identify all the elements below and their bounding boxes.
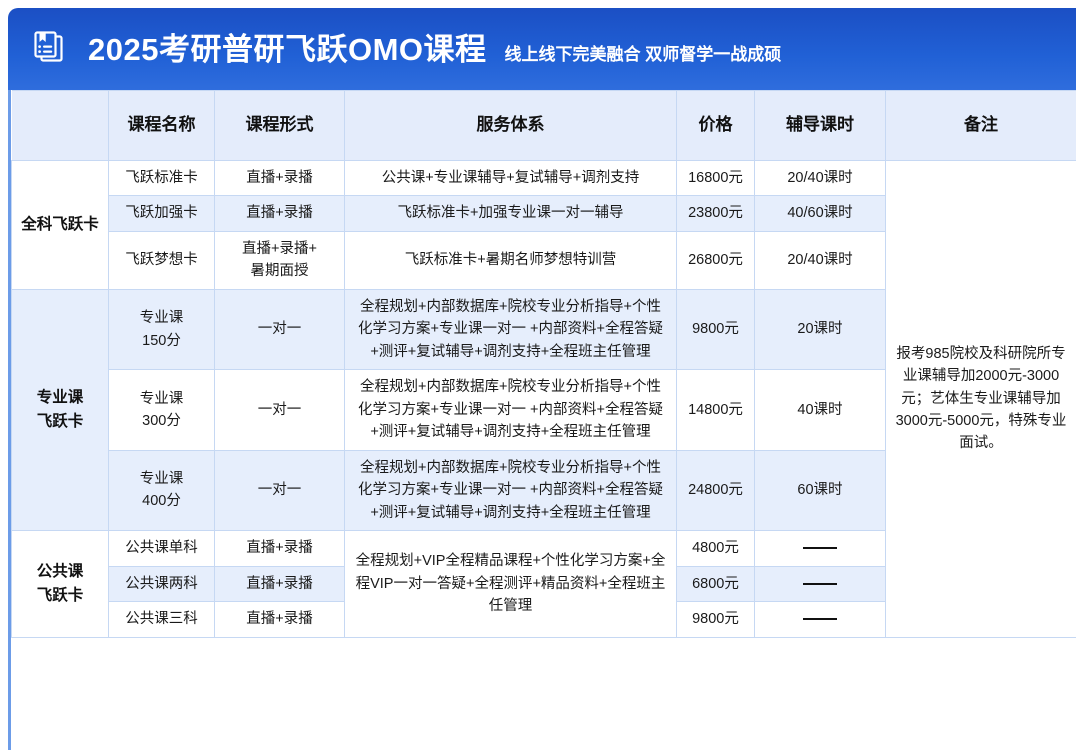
tutor-hours: 20课时 [755,289,886,369]
service-system-shared: 全程规划+VIP全程精品课程+个性化学习方案+全程VIP一对一答疑+全程测评+精… [345,531,677,637]
course-form: 一对一 [215,450,345,530]
col-header-service-system: 服务体系 [345,91,677,161]
course-name: 飞跃加强卡 [109,196,215,231]
col-header-group [12,91,109,161]
price: 16800元 [677,161,755,196]
tutor-hours [755,531,886,566]
col-header-remarks: 备注 [886,91,1076,161]
group-label-gonggongke: 公共课 飞跃卡 [12,531,109,637]
table-row: 全科飞跃卡 飞跃标准卡 直播+录播 公共课+专业课辅导+复试辅导+调剂支持 16… [12,161,1076,196]
course-name: 专业课 150分 [109,289,215,369]
tutor-hours: 40课时 [755,370,886,450]
tutor-hours: 20/40课时 [755,161,886,196]
col-header-price: 价格 [677,91,755,161]
price: 9800元 [677,289,755,369]
table-header: 课程名称 课程形式 服务体系 价格 辅导课时 备注 [12,91,1076,161]
group-label-quanke: 全科飞跃卡 [12,161,109,290]
empty-dash-icon [803,583,837,585]
service-system: 公共课+专业课辅导+复试辅导+调剂支持 [345,161,677,196]
course-form: 直播+录播 [215,566,345,601]
course-form: 直播+录播 [215,161,345,196]
service-system: 飞跃标准卡+暑期名师梦想特训营 [345,231,677,289]
table-header-row: 课程名称 课程形式 服务体系 价格 辅导课时 备注 [12,91,1076,161]
course-name: 专业课 400分 [109,450,215,530]
table-body: 全科飞跃卡 飞跃标准卡 直播+录播 公共课+专业课辅导+复试辅导+调剂支持 16… [12,161,1076,638]
course-name: 公共课两科 [109,566,215,601]
service-system: 全程规划+内部数据库+院校专业分析指导+个性化学习方案+专业课一对一 +内部资料… [345,289,677,369]
course-form: 直播+录播 [215,602,345,637]
service-system: 全程规划+内部数据库+院校专业分析指导+个性化学习方案+专业课一对一 +内部资料… [345,370,677,450]
course-name: 飞跃标准卡 [109,161,215,196]
course-name: 公共课三科 [109,602,215,637]
tutor-hours: 20/40课时 [755,231,886,289]
pricing-table: 课程名称 课程形式 服务体系 价格 辅导课时 备注 全科飞跃卡 飞跃标准卡 直播… [11,90,1076,638]
empty-dash-icon [803,618,837,620]
price: 6800元 [677,566,755,601]
col-header-tutor-hours: 辅导课时 [755,91,886,161]
price: 24800元 [677,450,755,530]
page-banner: 2025考研普研飞跃OMO课程 线上线下完美融合 双师督学一战成硕 [8,8,1076,90]
price: 14800元 [677,370,755,450]
page-title: 2025考研普研飞跃OMO课程 [88,34,487,65]
course-form: 直播+录播+ 暑期面授 [215,231,345,289]
col-header-course-name: 课程名称 [109,91,215,161]
service-system: 全程规划+内部数据库+院校专业分析指导+个性化学习方案+专业课一对一 +内部资料… [345,450,677,530]
document-list-icon [26,26,72,72]
remarks-cell: 报考985院校及科研院所专业课辅导加2000元-3000元；艺体生专业课辅导加3… [886,161,1076,638]
course-name: 专业课 300分 [109,370,215,450]
course-form: 直播+录播 [215,531,345,566]
course-form: 直播+录播 [215,196,345,231]
price: 23800元 [677,196,755,231]
col-header-course-form: 课程形式 [215,91,345,161]
tutor-hours: 40/60课时 [755,196,886,231]
service-system: 飞跃标准卡+加强专业课一对一辅导 [345,196,677,231]
course-name: 飞跃梦想卡 [109,231,215,289]
course-form: 一对一 [215,370,345,450]
price: 26800元 [677,231,755,289]
pricing-table-wrapper: 课程名称 课程形式 服务体系 价格 辅导课时 备注 全科飞跃卡 飞跃标准卡 直播… [11,90,1076,750]
page-subtitle: 线上线下完美融合 双师督学一战成硕 [505,46,782,65]
price: 4800元 [677,531,755,566]
price: 9800元 [677,602,755,637]
tutor-hours [755,602,886,637]
group-label-zhuanyeke: 专业课 飞跃卡 [12,289,109,530]
empty-dash-icon [803,547,837,549]
tutor-hours: 60课时 [755,450,886,530]
tutor-hours [755,566,886,601]
course-name: 公共课单科 [109,531,215,566]
course-pricing-page: 2025考研普研飞跃OMO课程 线上线下完美融合 双师督学一战成硕 课程名称 课… [0,0,1076,750]
course-form: 一对一 [215,289,345,369]
